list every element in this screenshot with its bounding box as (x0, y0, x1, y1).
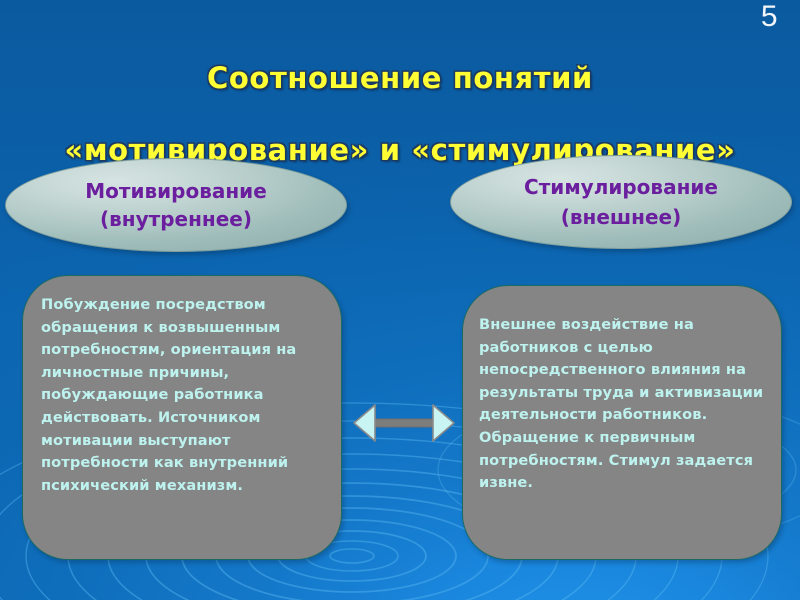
slide-canvas: 5 Соотношение понятий «мотивирование» и … (0, 0, 800, 600)
left-concept-ellipse: Мотивирование (внутреннее) (5, 158, 347, 252)
right-concept-panel: Внешнее воздействие на работников с цель… (462, 285, 782, 560)
left-concept-panel-text: Побуждение посредством обращения к возвы… (41, 294, 325, 497)
right-concept-ellipse: Стимулирование (внешнее) (450, 155, 792, 249)
right-concept-panel-text: Внешнее воздействие на работников с цель… (479, 314, 765, 495)
right-concept-ellipse-title: Стимулирование (524, 174, 718, 201)
left-concept-ellipse-subtitle: (внутреннее) (100, 206, 252, 233)
double-headed-arrow-icon (352, 401, 456, 445)
slide-title-line-1: Соотношение понятий (0, 60, 800, 96)
left-concept-panel: Побуждение посредством обращения к возвы… (22, 275, 342, 560)
right-concept-ellipse-subtitle: (внешнее) (561, 204, 682, 231)
left-concept-ellipse-title: Мотивирование (85, 178, 267, 205)
